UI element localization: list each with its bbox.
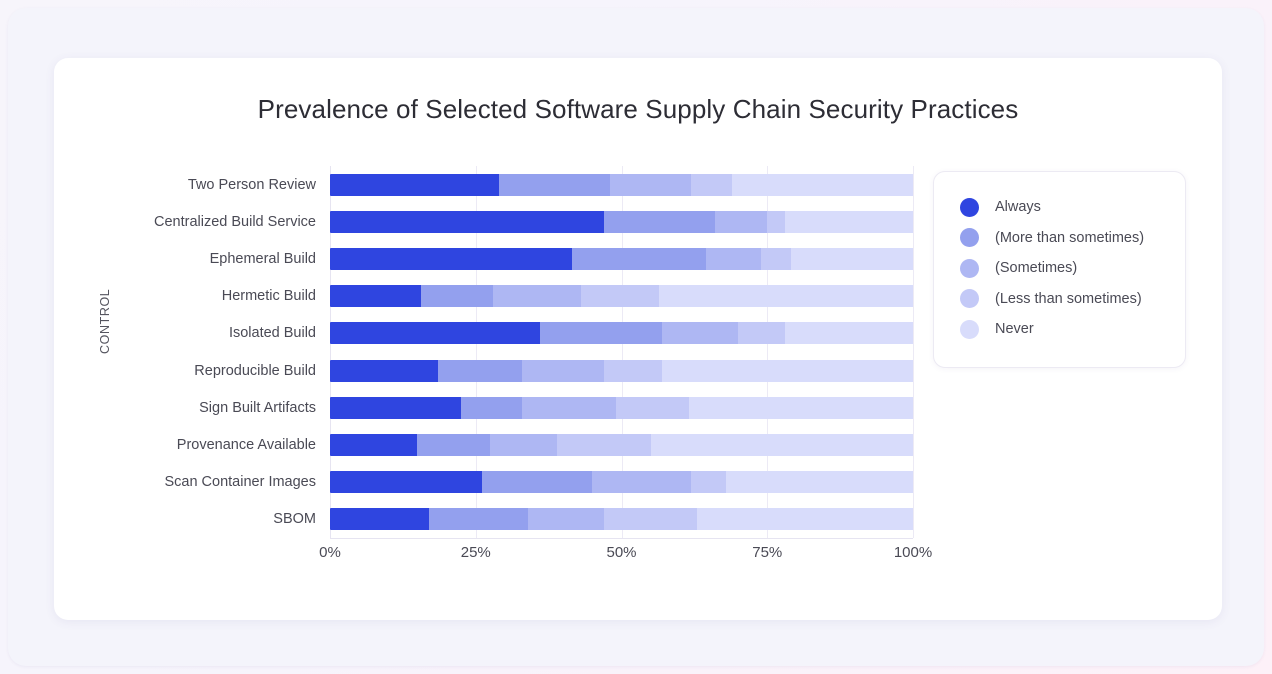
bar-segment[interactable] bbox=[616, 397, 689, 419]
y-axis-tick-label: Two Person Review bbox=[54, 177, 316, 193]
x-axis-labels: 0%25%50%75%100% bbox=[330, 544, 913, 570]
legend-item[interactable]: Never bbox=[960, 314, 1163, 345]
bar-segment[interactable] bbox=[691, 174, 732, 196]
bar-segment[interactable] bbox=[738, 322, 785, 344]
bar-segment[interactable] bbox=[330, 322, 540, 344]
x-axis-tick-label: 0% bbox=[319, 544, 341, 561]
legend-item[interactable]: (More than sometimes) bbox=[960, 223, 1163, 254]
x-axis-tick-label: 50% bbox=[606, 544, 636, 561]
bar-segment[interactable] bbox=[417, 434, 490, 456]
bar-segment[interactable] bbox=[540, 322, 662, 344]
bar-segment[interactable] bbox=[785, 211, 913, 233]
bar-segment[interactable] bbox=[761, 248, 790, 270]
bar-segment[interactable] bbox=[330, 360, 438, 382]
x-axis-tick-label: 25% bbox=[461, 544, 491, 561]
y-axis-tick-label: SBOM bbox=[54, 511, 316, 527]
bar-segment[interactable] bbox=[715, 211, 767, 233]
legend-item-label: (More than sometimes) bbox=[995, 230, 1144, 246]
bar-row[interactable] bbox=[330, 360, 913, 382]
bar-segment[interactable] bbox=[330, 211, 604, 233]
bar-segment[interactable] bbox=[557, 434, 650, 456]
y-axis-tick-label: Ephemeral Build bbox=[54, 251, 316, 267]
bar-segment[interactable] bbox=[785, 322, 913, 344]
y-axis-labels: Two Person ReviewCentralized Build Servi… bbox=[54, 166, 316, 538]
legend-item-label: (Sometimes) bbox=[995, 260, 1077, 276]
plot-area bbox=[330, 166, 913, 538]
bar-segment[interactable] bbox=[767, 211, 784, 233]
bar-segment[interactable] bbox=[706, 248, 761, 270]
bar-segment[interactable] bbox=[490, 434, 557, 456]
bar-segment[interactable] bbox=[438, 360, 523, 382]
bar-segment[interactable] bbox=[330, 397, 461, 419]
legend-swatch-circle-icon bbox=[960, 289, 979, 308]
bar-segment[interactable] bbox=[330, 508, 429, 530]
app-frame: Prevalence of Selected Software Supply C… bbox=[8, 8, 1264, 666]
y-axis-tick-label: Hermetic Build bbox=[54, 288, 316, 304]
legend-item-label: (Less than sometimes) bbox=[995, 291, 1142, 307]
bar-segment[interactable] bbox=[726, 471, 913, 493]
bar-segment[interactable] bbox=[651, 434, 913, 456]
y-axis-tick-label: Sign Built Artifacts bbox=[54, 400, 316, 416]
bar-segment[interactable] bbox=[499, 174, 610, 196]
y-axis-tick-label: Isolated Build bbox=[54, 325, 316, 341]
bar-segment[interactable] bbox=[330, 285, 421, 307]
bar-row[interactable] bbox=[330, 471, 913, 493]
y-axis-tick-label: Reproducible Build bbox=[54, 363, 316, 379]
legend-item-label: Always bbox=[995, 199, 1041, 215]
bar-segment[interactable] bbox=[659, 285, 913, 307]
bar-row[interactable] bbox=[330, 211, 913, 233]
legend-swatch-circle-icon bbox=[960, 259, 979, 278]
legend-swatch-circle-icon bbox=[960, 320, 979, 339]
chart-card: Prevalence of Selected Software Supply C… bbox=[54, 58, 1222, 620]
bar-row[interactable] bbox=[330, 248, 913, 270]
bar-segment[interactable] bbox=[493, 285, 580, 307]
y-axis-tick-label: Centralized Build Service bbox=[54, 214, 316, 230]
page-title: Prevalence of Selected Software Supply C… bbox=[54, 94, 1222, 125]
y-axis-tick-label: Scan Container Images bbox=[54, 474, 316, 490]
bar-row[interactable] bbox=[330, 434, 913, 456]
bar-segment[interactable] bbox=[528, 508, 604, 530]
bar-segment[interactable] bbox=[697, 508, 913, 530]
bar-segment[interactable] bbox=[732, 174, 913, 196]
bar-segment[interactable] bbox=[610, 174, 692, 196]
legend-item[interactable]: (Less than sometimes) bbox=[960, 284, 1163, 315]
legend-item-label: Never bbox=[995, 321, 1034, 337]
bar-segment[interactable] bbox=[691, 471, 726, 493]
bar-segment[interactable] bbox=[592, 471, 691, 493]
legend-swatch-circle-icon bbox=[960, 198, 979, 217]
legend-swatch-circle-icon bbox=[960, 228, 979, 247]
chart-legend[interactable]: Always(More than sometimes)(Sometimes)(L… bbox=[933, 171, 1186, 368]
bar-segment[interactable] bbox=[522, 360, 604, 382]
legend-item[interactable]: (Sometimes) bbox=[960, 253, 1163, 284]
bar-segment[interactable] bbox=[581, 285, 660, 307]
bar-segment[interactable] bbox=[604, 508, 697, 530]
legend-item[interactable]: Always bbox=[960, 192, 1163, 223]
bar-segment[interactable] bbox=[461, 397, 522, 419]
bar-segment[interactable] bbox=[330, 434, 417, 456]
bar-segment[interactable] bbox=[482, 471, 593, 493]
gridline-100 bbox=[913, 166, 914, 538]
bar-segment[interactable] bbox=[330, 471, 482, 493]
bar-row[interactable] bbox=[330, 397, 913, 419]
bar-segment[interactable] bbox=[604, 360, 662, 382]
bar-segment[interactable] bbox=[330, 248, 572, 270]
bar-row[interactable] bbox=[330, 285, 913, 307]
bar-row[interactable] bbox=[330, 508, 913, 530]
y-axis-tick-label: Provenance Available bbox=[54, 437, 316, 453]
x-axis-line bbox=[330, 538, 913, 539]
bar-segment[interactable] bbox=[662, 360, 913, 382]
bar-segment[interactable] bbox=[662, 322, 738, 344]
bar-row[interactable] bbox=[330, 174, 913, 196]
x-axis-tick-label: 100% bbox=[894, 544, 932, 561]
bar-segment[interactable] bbox=[522, 397, 615, 419]
x-axis-tick-label: 75% bbox=[752, 544, 782, 561]
bar-segment[interactable] bbox=[791, 248, 913, 270]
bar-segment[interactable] bbox=[604, 211, 715, 233]
bar-segment[interactable] bbox=[330, 174, 499, 196]
bar-segment[interactable] bbox=[689, 397, 913, 419]
bar-segment[interactable] bbox=[429, 508, 528, 530]
bar-segment[interactable] bbox=[421, 285, 493, 307]
bar-row[interactable] bbox=[330, 322, 913, 344]
bar-segment[interactable] bbox=[572, 248, 706, 270]
